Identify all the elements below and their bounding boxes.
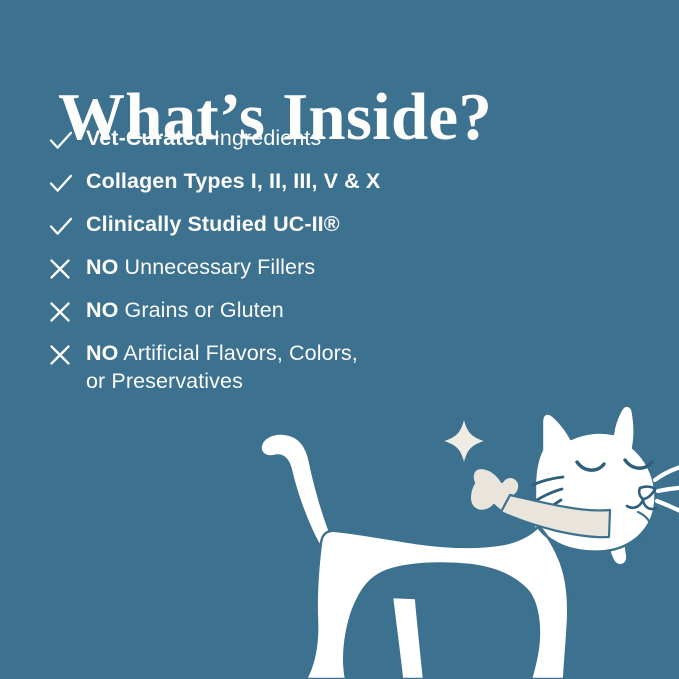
cross-icon xyxy=(46,341,86,372)
list-item: NO Unnecessary Fillers xyxy=(46,253,516,288)
cross-icon xyxy=(46,255,86,286)
list-item-rest: Ingredients xyxy=(208,126,322,150)
list-item: NO Grains or Gluten xyxy=(46,296,516,331)
cat-front-leg-far xyxy=(392,597,424,679)
list-item-rest: Artificial Flavors, Colors, xyxy=(118,341,357,365)
list-item-lead: NO xyxy=(86,298,118,322)
list-item-text: Collagen Types I, II, III, V & X xyxy=(86,167,380,196)
list-item-line2: or Preservatives xyxy=(86,369,243,393)
list-item-text: Vet-Curated Ingredients xyxy=(86,124,321,153)
check-icon xyxy=(46,212,86,243)
list-item: Clinically Studied UC-II® xyxy=(46,210,516,245)
list-item: Collagen Types I, II, III, V & X xyxy=(46,167,516,202)
list-item-text: NO Artificial Flavors, Colors,or Preserv… xyxy=(86,339,358,396)
list-item-lead: Clinically Studied UC-II® xyxy=(86,212,340,236)
list-item: Vet-Curated Ingredients xyxy=(46,124,516,159)
benefit-list: Vet-Curated Ingredients Collagen Types I… xyxy=(46,124,516,404)
cat-tail xyxy=(261,434,332,545)
cat-body xyxy=(306,406,655,679)
list-item-rest: Grains or Gluten xyxy=(118,298,283,322)
check-icon xyxy=(46,126,86,157)
list-item-rest: Unnecessary Fillers xyxy=(118,255,315,279)
poster-canvas: What’s Inside? Vet-Curated Ingredients C… xyxy=(0,0,679,679)
check-icon xyxy=(46,169,86,200)
list-item-lead: NO xyxy=(86,341,118,365)
list-item-text: NO Grains or Gluten xyxy=(86,296,284,325)
cross-icon xyxy=(46,298,86,329)
list-item-lead: NO xyxy=(86,255,118,279)
list-item: NO Artificial Flavors, Colors,or Preserv… xyxy=(46,339,516,396)
cat-whiskers-right xyxy=(655,462,679,524)
sparkle-icon-1 xyxy=(442,417,486,465)
list-item-lead: Collagen Types I, II, III, V & X xyxy=(86,169,380,193)
list-item-text: NO Unnecessary Fillers xyxy=(86,253,315,282)
list-item-lead: Vet-Curated xyxy=(86,126,208,150)
cat-illustration xyxy=(248,400,679,679)
list-item-text: Clinically Studied UC-II® xyxy=(86,210,340,239)
